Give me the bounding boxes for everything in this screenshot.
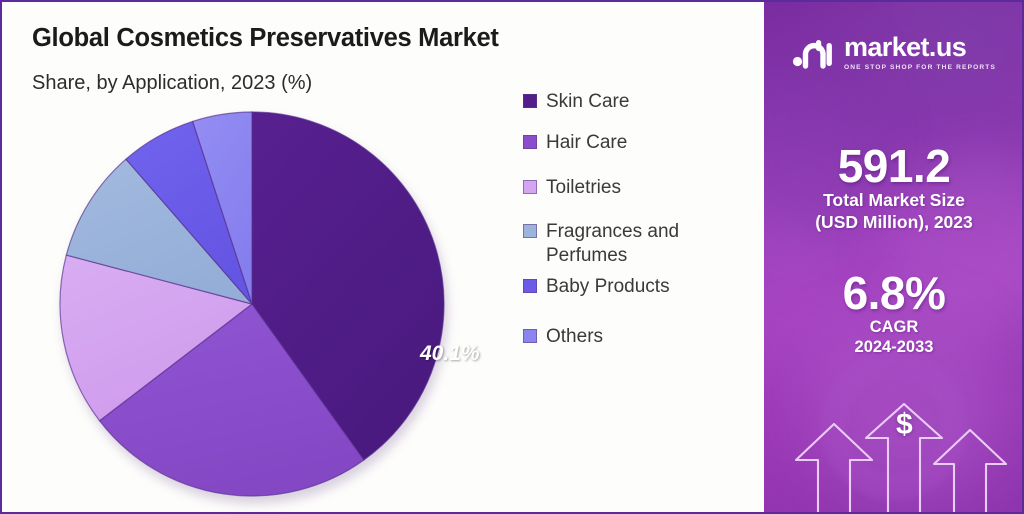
infographic-root: Global Cosmetics Preservatives Market Sh…	[0, 0, 1024, 514]
up-arrow-icon	[796, 424, 872, 512]
legend-label-toiletries: Toiletries	[546, 176, 621, 200]
growth-arrows-group	[782, 402, 1012, 512]
brand-logo[interactable]: market.us ONE STOP SHOP FOR THE REPORTS	[764, 34, 1024, 71]
page-title: Global Cosmetics Preservatives Market	[32, 24, 499, 53]
stat-cagr: 6.8% CAGR 2024-2033	[764, 269, 1024, 358]
legend-item-fragrances-and-perfumes[interactable]: Fragrances and Perfumes	[523, 220, 748, 269]
logo-wordmark: market.us	[844, 34, 996, 61]
legend-item-others[interactable]: Others	[523, 325, 748, 349]
chart-panel: Global Cosmetics Preservatives Market Sh…	[0, 0, 764, 514]
legend-swatch-icon-baby-products	[523, 279, 537, 293]
pie-slice-label-skin-care: 40.1%	[420, 342, 480, 366]
stat-caption-market-size-line2: (USD Million), 2023	[764, 212, 1024, 233]
legend-item-toiletries[interactable]: Toiletries	[523, 176, 748, 200]
pie-chart-svg	[58, 110, 452, 504]
pie-chart: 40.1%	[58, 110, 452, 504]
legend-item-baby-products[interactable]: Baby Products	[523, 275, 748, 299]
logo-tagline: ONE STOP SHOP FOR THE REPORTS	[844, 64, 996, 71]
chart-subtitle: Share, by Application, 2023 (%)	[32, 72, 312, 95]
stat-caption-market-size-line1: Total Market Size	[764, 190, 1024, 211]
key-statistics: 591.2 Total Market Size (USD Million), 2…	[764, 142, 1024, 358]
legend-item-skin-care[interactable]: Skin Care	[523, 90, 748, 114]
legend-swatch-icon-hair-care	[523, 135, 537, 149]
stat-market-size: 591.2 Total Market Size (USD Million), 2…	[764, 142, 1024, 233]
legend-label-skin-care: Skin Care	[546, 90, 629, 114]
legend-item-hair-care[interactable]: Hair Care	[523, 131, 748, 155]
stat-caption-cagr-line2: 2024-2033	[764, 337, 1024, 357]
stat-value-cagr: 6.8%	[764, 269, 1024, 317]
legend-swatch-icon-skin-care	[523, 94, 537, 108]
legend-label-fragrances-and-perfumes: Fragrances and Perfumes	[546, 220, 748, 269]
legend-label-others: Others	[546, 325, 603, 349]
legend-swatch-icon-others	[523, 329, 537, 343]
chart-legend: Skin Care Hair Care Toiletries Fragrance…	[523, 90, 748, 349]
legend-label-hair-care: Hair Care	[546, 131, 627, 155]
legend-swatch-icon-fragrances-and-perfumes	[523, 224, 537, 238]
legend-swatch-icon-toiletries	[523, 180, 537, 194]
brand-panel: market.us ONE STOP SHOP FOR THE REPORTS …	[764, 0, 1024, 514]
logo-text: market.us ONE STOP SHOP FOR THE REPORTS	[844, 34, 996, 71]
stat-value-market-size: 591.2	[764, 142, 1024, 190]
stat-caption-cagr-line1: CAGR	[764, 317, 1024, 337]
up-arrow-icon	[866, 404, 942, 512]
market-us-logo-icon	[792, 36, 836, 70]
legend-label-baby-products: Baby Products	[546, 275, 670, 299]
up-arrow-icon	[934, 430, 1006, 512]
